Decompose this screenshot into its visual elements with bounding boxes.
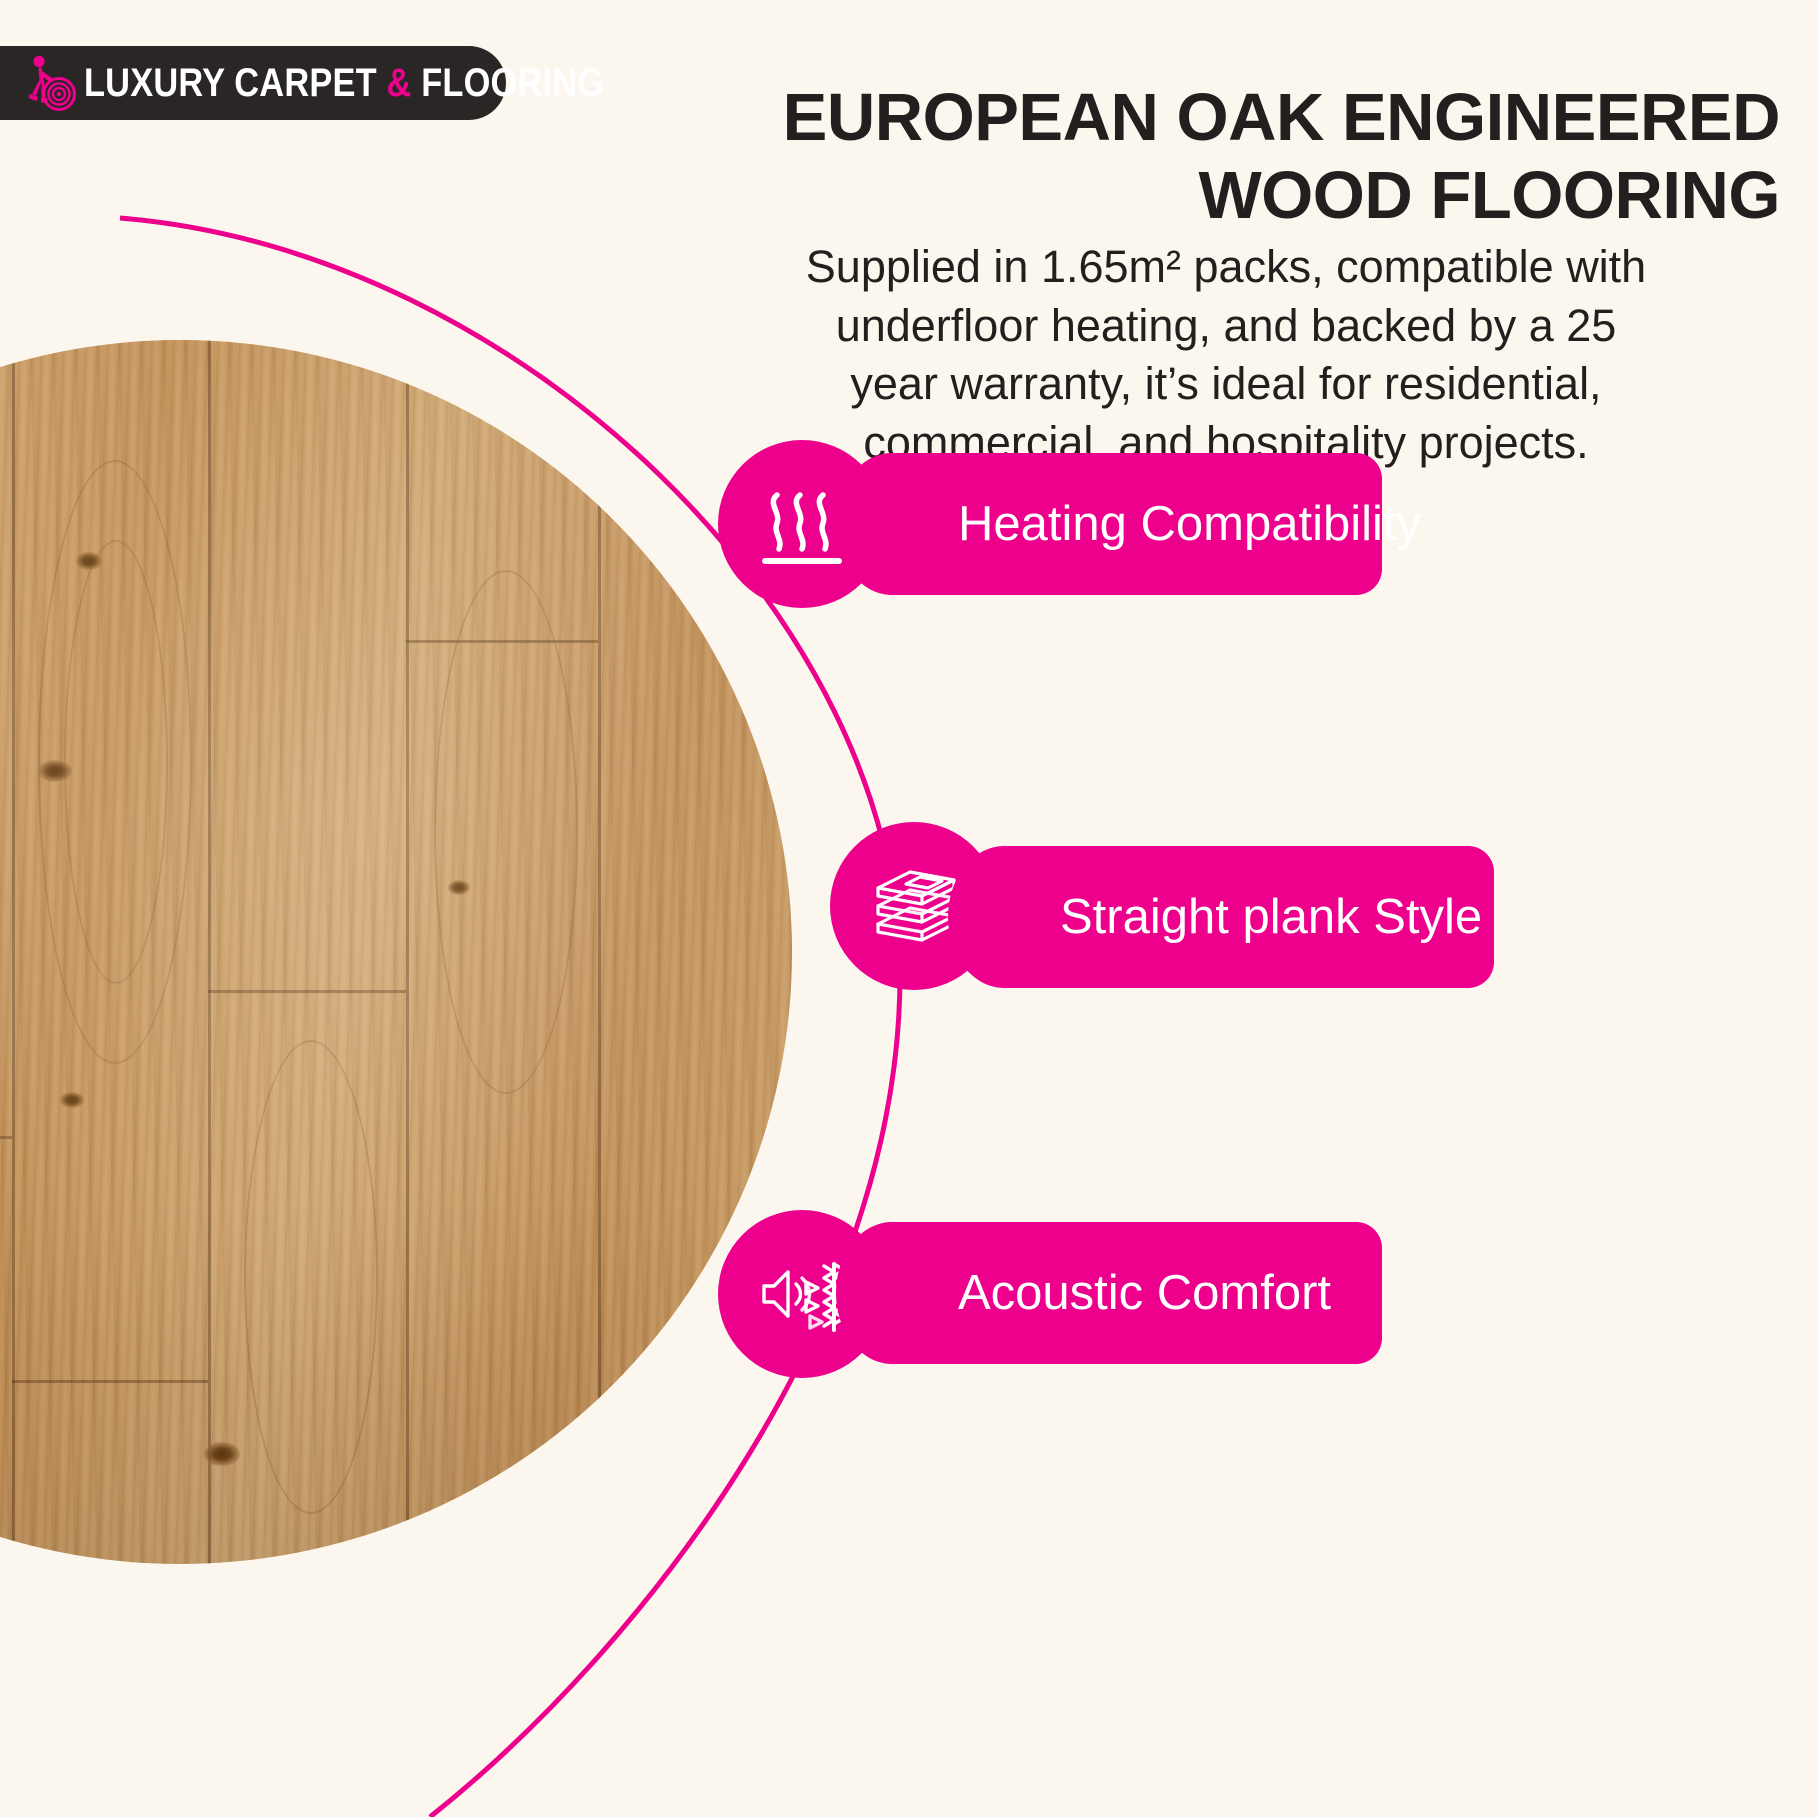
carpet-roller-icon bbox=[22, 54, 78, 112]
feature-label: Straight plank Style bbox=[1060, 893, 1482, 942]
infographic-canvas: LUXURY CARPET & FLOORING EUROPEAN OAK EN… bbox=[0, 0, 1818, 1817]
page-title-line-2: WOOD FLOORING bbox=[620, 157, 1780, 235]
logo-text-secondary: FLOORING bbox=[412, 61, 605, 105]
page-title-line-1: EUROPEAN OAK ENGINEERED bbox=[783, 80, 1780, 155]
feature-label: Acoustic Comfort bbox=[958, 1269, 1331, 1318]
page-title: EUROPEAN OAK ENGINEEREDWOOD FLOORING bbox=[620, 79, 1798, 234]
feature-label-bar: Acoustic Comfort bbox=[890, 1222, 1382, 1364]
feature-label-bar: Heating Compatibility bbox=[890, 453, 1382, 595]
logo-text-primary: LUXURY CARPET bbox=[84, 61, 386, 105]
brand-logo[interactable]: LUXURY CARPET & FLOORING bbox=[0, 46, 506, 120]
feature-label-bar: Straight plank Style bbox=[1002, 846, 1494, 988]
description-line-2: underfloor heating, and backed by a 25 bbox=[672, 297, 1780, 356]
description-line-3: year warranty, it’s ideal for residentia… bbox=[672, 355, 1780, 414]
feature-label: Heating Compatibility bbox=[958, 500, 1421, 549]
brand-logo-text: LUXURY CARPET & FLOORING bbox=[84, 63, 604, 103]
description-line-1: Supplied in 1.65m² packs, compatible wit… bbox=[672, 238, 1780, 297]
logo-ampersand: & bbox=[386, 61, 411, 105]
product-photo-circle bbox=[0, 340, 792, 1564]
product-description: Supplied in 1.65m² packs, compatible wit… bbox=[672, 238, 1798, 472]
